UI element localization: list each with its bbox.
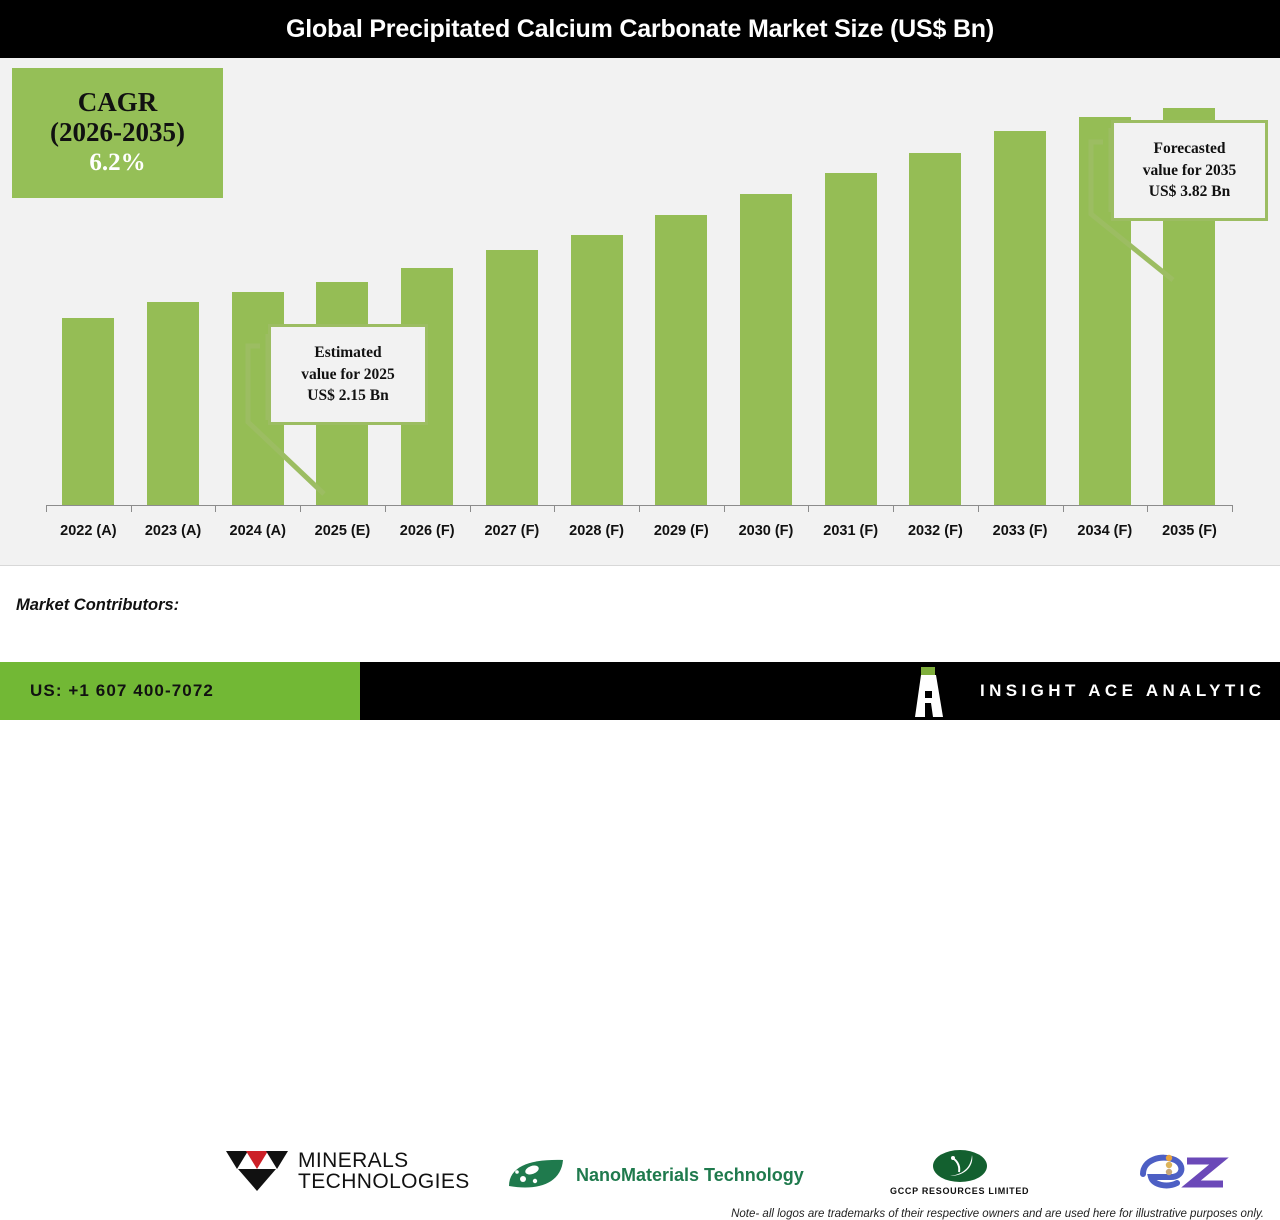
gccp-wordmark: GCCP RESOURCES LIMITED bbox=[890, 1186, 1029, 1196]
bar-2022[interactable] bbox=[62, 318, 114, 505]
forecast-value-callout: Forecasted value for 2035 US$ 3.82 Bn bbox=[1111, 120, 1268, 221]
gccp-resources-logo: GCCP RESOURCES LIMITED bbox=[890, 1149, 1029, 1196]
page-title: Global Precipitated Calcium Carbonate Ma… bbox=[286, 15, 994, 44]
x-tick bbox=[385, 505, 386, 512]
x-label-2022: 2022 (A) bbox=[46, 513, 131, 549]
bar-slot bbox=[978, 58, 1063, 505]
bar-slot bbox=[131, 58, 216, 505]
x-tick bbox=[300, 505, 301, 512]
bar-2027[interactable] bbox=[486, 250, 538, 505]
x-tick bbox=[554, 505, 555, 512]
bar-slot bbox=[554, 58, 639, 505]
bar-slot bbox=[639, 58, 724, 505]
nanomaterials-wordmark: NanoMaterials Technology bbox=[576, 1165, 804, 1186]
bar-slot bbox=[893, 58, 978, 505]
minerals-technologies-logo: MINERALS TECHNOLOGIES bbox=[224, 1147, 470, 1195]
bar-2028[interactable] bbox=[571, 235, 623, 505]
insight-ace-a-logo-icon bbox=[903, 667, 959, 717]
estimated-callout-line3: US$ 2.15 Bn bbox=[307, 385, 388, 406]
bar-slot bbox=[808, 58, 893, 505]
x-label-2032: 2032 (F) bbox=[893, 513, 978, 549]
x-label-2031: 2031 (F) bbox=[808, 513, 893, 549]
contributors-strip: Market Contributors: MINERALS TECHNOLOGI… bbox=[0, 565, 1280, 662]
bar-series bbox=[46, 58, 1232, 505]
x-label-2034: 2034 (F) bbox=[1062, 513, 1147, 549]
forecast-callout-line2: value for 2035 bbox=[1143, 160, 1237, 181]
market-contributors-label: Market Contributors: bbox=[16, 596, 179, 615]
x-label-2033: 2033 (F) bbox=[978, 513, 1063, 549]
x-tick bbox=[1232, 505, 1233, 512]
minerals-technologies-wordmark: MINERALS TECHNOLOGIES bbox=[298, 1150, 470, 1192]
estimated-value-callout: Estimated value for 2025 US$ 2.15 Bn bbox=[268, 324, 428, 425]
logo-disclaimer-note: Note- all logos are trademarks of their … bbox=[731, 1208, 1264, 1220]
x-tick bbox=[808, 505, 809, 512]
x-tick bbox=[639, 505, 640, 512]
x-label-2030: 2030 (F) bbox=[724, 513, 809, 549]
forecast-callout-line3: US$ 3.82 Bn bbox=[1149, 181, 1230, 202]
x-tick bbox=[470, 505, 471, 512]
footer-brand-bar: INSIGHT ACE ANALYTIC bbox=[360, 662, 1280, 720]
bar-2033[interactable] bbox=[994, 131, 1046, 505]
bar-slot bbox=[470, 58, 555, 505]
bar-2032[interactable] bbox=[909, 153, 961, 505]
forecast-callout-line1: Forecasted bbox=[1153, 138, 1225, 159]
bar-slot bbox=[46, 58, 131, 505]
x-tick bbox=[1147, 505, 1148, 512]
x-tick bbox=[215, 505, 216, 512]
gccp-oval-icon bbox=[932, 1149, 988, 1183]
nanomaterials-technology-logo: NanoMaterials Technology bbox=[505, 1158, 804, 1192]
x-axis-labels: 2022 (A)2023 (A)2024 (A)2025 (E)2026 (F)… bbox=[46, 513, 1232, 549]
footer-phone-number[interactable]: US: +1 607 400-7072 bbox=[30, 681, 214, 701]
x-label-2028: 2028 (F) bbox=[554, 513, 639, 549]
x-tick bbox=[46, 505, 47, 512]
x-tick bbox=[724, 505, 725, 512]
x-label-2026: 2026 (F) bbox=[385, 513, 470, 549]
x-label-2025: 2025 (E) bbox=[300, 513, 385, 549]
x-tick bbox=[978, 505, 979, 512]
bar-2029[interactable] bbox=[655, 215, 707, 505]
bar-2023[interactable] bbox=[147, 302, 199, 505]
mt-line1: MINERALS bbox=[298, 1150, 470, 1171]
nanomaterials-leaf-icon bbox=[505, 1158, 567, 1192]
x-label-2023: 2023 (A) bbox=[131, 513, 216, 549]
estimated-callout-line1: Estimated bbox=[314, 342, 381, 363]
brand-name: INSIGHT ACE ANALYTIC bbox=[980, 681, 1265, 701]
x-tick bbox=[131, 505, 132, 512]
bar-slot bbox=[724, 58, 809, 505]
x-tick bbox=[893, 505, 894, 512]
x-label-2035: 2035 (F) bbox=[1147, 513, 1232, 549]
bar-slot bbox=[385, 58, 470, 505]
ez-mark-icon bbox=[1135, 1152, 1247, 1192]
mt-line2: TECHNOLOGIES bbox=[298, 1171, 470, 1192]
minerals-triangles-icon bbox=[224, 1147, 290, 1195]
bar-2030[interactable] bbox=[740, 194, 792, 505]
title-bar: Global Precipitated Calcium Carbonate Ma… bbox=[0, 0, 1280, 58]
chart-panel: CAGR (2026-2035) 6.2% 2022 (A)2023 (A)20… bbox=[0, 58, 1280, 565]
estimated-callout-line2: value for 2025 bbox=[301, 364, 395, 385]
bar-2031[interactable] bbox=[825, 173, 877, 505]
x-tick bbox=[1063, 505, 1064, 512]
x-label-2024: 2024 (A) bbox=[215, 513, 300, 549]
x-label-2027: 2027 (F) bbox=[470, 513, 555, 549]
footer-contact-bar: US: +1 607 400-7072 bbox=[0, 662, 360, 720]
x-label-2029: 2029 (F) bbox=[639, 513, 724, 549]
ez-logo bbox=[1135, 1152, 1247, 1192]
